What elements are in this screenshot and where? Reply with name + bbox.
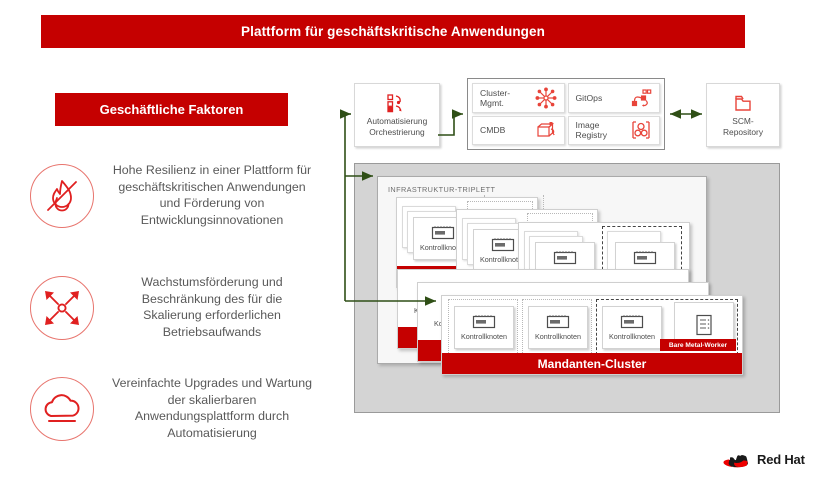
red-hat-hat-icon <box>722 448 752 470</box>
factor-text: Wachstumsförderung und Beschränkung des … <box>112 272 312 340</box>
bare-metal-worker-label: Bare Metal-Worker <box>669 342 727 349</box>
image-registry-icon <box>630 119 652 141</box>
scm-box-label: SCM- Repository <box>723 116 763 137</box>
tenant-cluster-bar-label: Mandanten-Cluster <box>538 357 647 371</box>
node-icon <box>633 251 657 265</box>
tenant-cluster-bar: Mandanten-Cluster <box>442 353 742 374</box>
architecture-diagram: Automatisierung Orchestrierung Cluster- … <box>340 60 814 420</box>
factor-text: Hohe Resilienz in einer Plattform für ge… <box>112 160 312 228</box>
automation-orchestration-box[interactable]: Automatisierung Orchestrierung <box>354 83 440 147</box>
tool-label: Cluster- Mgmt. <box>480 88 510 108</box>
kontrollknoten-node[interactable]: Kontrollknoten <box>528 306 588 349</box>
tool-label: Image Registry <box>576 120 608 140</box>
fire-resilience-icon <box>30 164 94 228</box>
automation-box-label: Automatisierung Orchestrierung <box>367 116 428 137</box>
bare-metal-worker-bar: Bare Metal-Worker <box>660 339 736 351</box>
business-factors-label: Geschäftliche Faktoren <box>100 102 244 117</box>
gitops-icon <box>630 88 652 108</box>
factor-item: Vereinfachte Upgrades und Wartung der sk… <box>30 373 330 441</box>
red-hat-logo: Red Hat <box>722 448 805 470</box>
factor-item: Hohe Resilienz in einer Plattform für ge… <box>30 160 330 228</box>
tool-gitops[interactable]: GitOps <box>568 83 661 113</box>
folder-icon <box>732 93 754 113</box>
kontrollknoten-node[interactable]: Kontrollknoten <box>454 306 514 349</box>
page-title: Plattform für geschäftskritische Anwendu… <box>241 24 545 39</box>
tool-label: GitOps <box>576 93 603 103</box>
tool-image-registry[interactable]: Image Registry <box>568 116 661 146</box>
node-icon <box>472 315 496 329</box>
infrastructure-triplet-label: INFRASTRUKTUR-TRIPLETT <box>388 185 495 194</box>
scm-repository-box[interactable]: SCM- Repository <box>706 83 780 147</box>
node-label: Kontrollknoten <box>461 332 507 341</box>
node-icon <box>431 226 455 240</box>
cloud-icon <box>30 377 94 441</box>
node-icon <box>546 315 570 329</box>
platform-tools-group: Cluster- Mgmt. GitOps <box>467 78 665 150</box>
red-hat-wordmark: Red Hat <box>757 452 805 467</box>
business-factors-badge: Geschäftliche Faktoren <box>55 93 288 126</box>
node-label: Kontrollknoten <box>535 332 581 341</box>
cmdb-icon <box>535 120 557 140</box>
cluster-mgmt-icon <box>535 87 557 109</box>
node-icon <box>553 251 577 265</box>
bare-metal-icon <box>695 314 713 336</box>
kontrollknoten-node[interactable]: Kontrollknoten <box>602 306 662 349</box>
factor-item: Wachstumsförderung und Beschränkung des … <box>30 272 330 340</box>
node-icon <box>620 315 644 329</box>
node-icon <box>491 238 515 252</box>
tenant-cluster-card[interactable]: Kontrollknoten Kontrollknoten <box>441 295 743 375</box>
node-label: Kontrollknoten <box>609 332 655 341</box>
automation-icon <box>385 93 409 113</box>
platform-panel: INFRASTRUKTUR-TRIPLETT <box>354 163 780 413</box>
scale-arrows-icon <box>30 276 94 340</box>
factor-text: Vereinfachte Upgrades und Wartung der sk… <box>112 373 312 441</box>
tool-cmdb[interactable]: CMDB <box>472 116 565 146</box>
tool-label: CMDB <box>480 125 505 135</box>
page-title-banner: Plattform für geschäftskritische Anwendu… <box>41 15 745 48</box>
tool-cluster-mgmt[interactable]: Cluster- Mgmt. <box>472 83 565 113</box>
